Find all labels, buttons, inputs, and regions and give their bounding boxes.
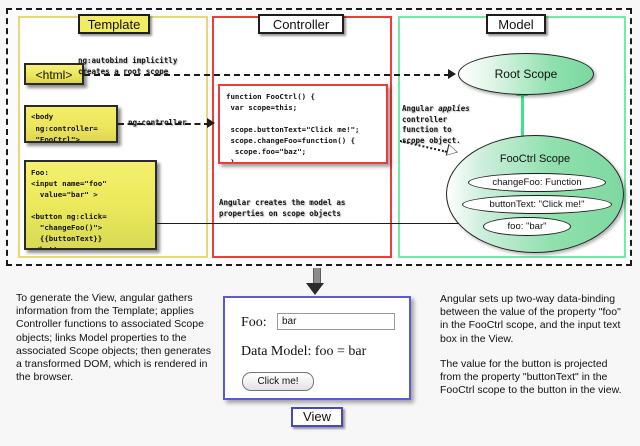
panel-title-controller: Controller bbox=[258, 14, 344, 34]
description-right-paragraph-2: The value for the button is projected fr… bbox=[440, 358, 630, 398]
scope-property-changefoo: changeFoo: Function bbox=[468, 173, 606, 192]
view-preview-box: Foo: Data Model: foo = bar Click me! bbox=[223, 296, 411, 400]
annotation-angular-applies: Angular applies controller function to s… bbox=[402, 104, 470, 146]
panel-title-template: Template bbox=[78, 14, 150, 34]
description-left: To generate the View, angular gathers in… bbox=[16, 292, 212, 384]
view-foo-label: Foo: bbox=[241, 315, 267, 331]
connector-ngcontroller-line bbox=[118, 123, 210, 125]
connector-autobind-arrowhead-icon bbox=[448, 69, 456, 79]
applies-text-start: Angular bbox=[402, 104, 438, 113]
diagram-canvas: Template Controller Model <html> <body n… bbox=[0, 0, 640, 446]
connector-ngcontroller-arrowhead-icon bbox=[207, 118, 215, 128]
controller-code-block: function FooCtrl() { var scope=this; sco… bbox=[218, 84, 388, 164]
scope-property-foo: foo: "bar" bbox=[483, 217, 571, 236]
fooctrl-scope-label: FooCtrl Scope bbox=[447, 153, 623, 165]
applies-text-italic: applies bbox=[438, 104, 470, 113]
template-foo-box: Foo: <input name="foo" value="bar" > <bu… bbox=[24, 160, 157, 250]
annotation-creates-model: Angular creates the model as properties … bbox=[219, 198, 345, 219]
scope-property-buttontext: buttonText: "Click me!" bbox=[462, 195, 612, 214]
panel-title-view: View bbox=[291, 407, 343, 427]
view-foo-input[interactable] bbox=[277, 313, 395, 330]
connector-autobind-line bbox=[84, 74, 450, 76]
view-data-model-text: Data Model: foo = bar bbox=[241, 344, 366, 360]
view-arrowhead-icon bbox=[306, 283, 324, 295]
scope-inheritance-arrow-stem bbox=[521, 94, 524, 138]
description-right: Angular sets up two-way data-binding bet… bbox=[440, 293, 630, 409]
connector-foo-binding-line bbox=[157, 223, 474, 224]
panel-title-model: Model bbox=[486, 14, 546, 34]
description-right-paragraph-1: Angular sets up two-way data-binding bet… bbox=[440, 293, 630, 346]
template-html-box: <html> bbox=[24, 63, 84, 85]
root-scope-oval: Root Scope bbox=[458, 53, 594, 95]
applies-text-rest: controller function to scope object. bbox=[402, 115, 461, 145]
view-click-me-button[interactable]: Click me! bbox=[242, 372, 314, 391]
template-body-box: <body ng:controller= "FooCtrl"> bbox=[24, 105, 118, 143]
